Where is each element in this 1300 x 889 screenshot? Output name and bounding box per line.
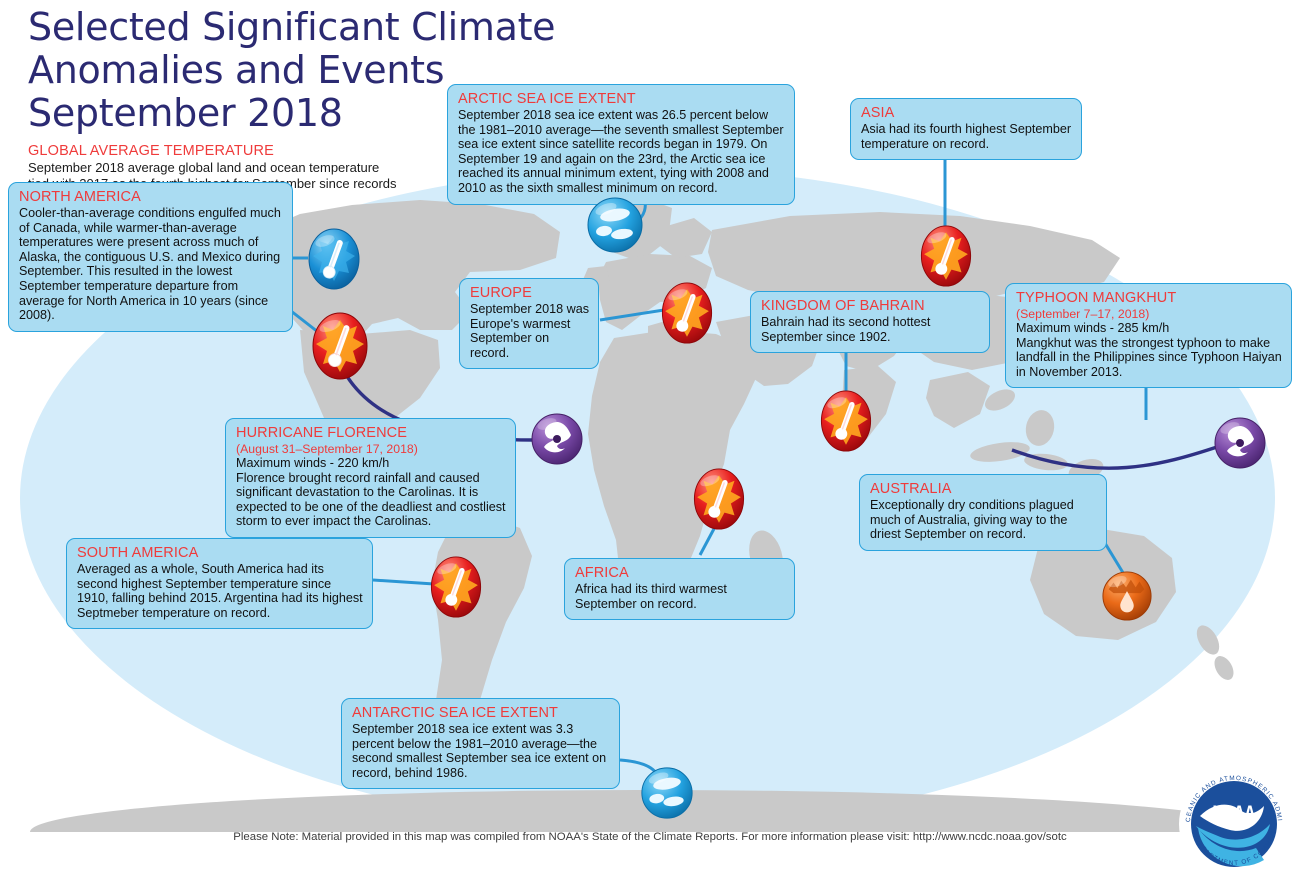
callout-antarctic-sea-ice[interactable]: ANTARCTIC SEA ICE EXTENT September 2018 … [341,698,620,789]
hot-thermometer-icon-africa[interactable] [693,468,745,530]
infographic-root: Selected Significant Climate Anomalies a… [0,0,1300,889]
callout-body: September 2018 sea ice extent was 3.3 pe… [352,722,610,780]
callout-body: Africa had its third warmest September o… [575,582,785,611]
callout-subtitle: (September 7–17, 2018) [1016,307,1282,321]
callout-title: HURRICANE FLORENCE [236,425,506,442]
callout-body: Asia had its fourth highest September te… [861,122,1072,151]
hot-thermometer-icon-europe[interactable] [661,282,713,344]
hot-thermometer-icon-usa[interactable] [312,312,368,380]
callout-south-america[interactable]: SOUTH AMERICA Averaged as a whole, South… [66,538,373,629]
callout-africa[interactable]: AFRICA Africa had its third warmest Sept… [564,558,795,620]
callout-typhoon-mangkhut[interactable]: TYPHOON MANGKHUT (September 7–17, 2018) … [1005,283,1292,388]
callout-body: Maximum winds - 220 km/h Florence brough… [236,456,506,529]
hot-thermometer-icon-bahrain[interactable] [820,390,872,452]
callout-title: SOUTH AMERICA [77,545,363,562]
cold-thermometer-icon-canada[interactable] [308,228,360,290]
callout-title: AUSTRALIA [870,481,1097,498]
callout-title: NORTH AMERICA [19,189,283,206]
drought-icon-australia[interactable] [1101,570,1153,622]
callout-body: September 2018 was Europe's warmest Sept… [470,302,589,360]
callout-body: Cooler-than-average conditions engulfed … [19,206,283,323]
hot-thermometer-icon-asia[interactable] [920,225,972,287]
callout-arctic-sea-ice[interactable]: ARCTIC SEA ICE EXTENT September 2018 sea… [447,84,795,205]
callout-europe[interactable]: EUROPE September 2018 was Europe's warme… [459,278,599,369]
callout-kingdom-of-bahrain[interactable]: KINGDOM OF BAHRAIN Bahrain had its secon… [750,291,990,353]
callout-title: KINGDOM OF BAHRAIN [761,298,980,315]
callout-body: Maximum winds - 285 km/h Mangkhut was th… [1016,321,1282,379]
callout-north-america[interactable]: NORTH AMERICA Cooler-than-average condit… [8,182,293,332]
callout-title: ANTARCTIC SEA ICE EXTENT [352,705,610,722]
callout-asia[interactable]: ASIA Asia had its fourth highest Septemb… [850,98,1082,160]
noaa-logo: NOAA NATIONAL OCEANIC AND ATMOSPHERIC AD… [1178,768,1290,880]
hot-thermometer-icon-south-america[interactable] [430,556,482,618]
callout-body: Averaged as a whole, South America had i… [77,562,363,620]
callout-body: September 2018 sea ice extent was 26.5 p… [458,108,785,196]
callout-subtitle: (August 31–September 17, 2018) [236,442,506,456]
callout-title: AFRICA [575,565,785,582]
callout-hurricane-florence[interactable]: HURRICANE FLORENCE (August 31–September … [225,418,516,538]
callout-title: ARCTIC SEA ICE EXTENT [458,91,785,108]
callout-title: ASIA [861,105,1072,122]
sea-ice-icon-arctic[interactable] [586,196,644,254]
hurricane-icon-mangkhut[interactable] [1213,416,1267,470]
callout-title: EUROPE [470,285,589,302]
callout-body: Exceptionally dry conditions plagued muc… [870,498,1097,542]
callout-australia[interactable]: AUSTRALIA Exceptionally dry conditions p… [859,474,1107,551]
callout-title: TYPHOON MANGKHUT [1016,290,1282,307]
callout-body: Bahrain had its second hottest September… [761,315,980,344]
hurricane-icon-florence[interactable] [530,412,584,466]
sea-ice-icon-antarctic[interactable] [640,766,694,820]
noaa-wordmark: NOAA [1213,803,1256,823]
